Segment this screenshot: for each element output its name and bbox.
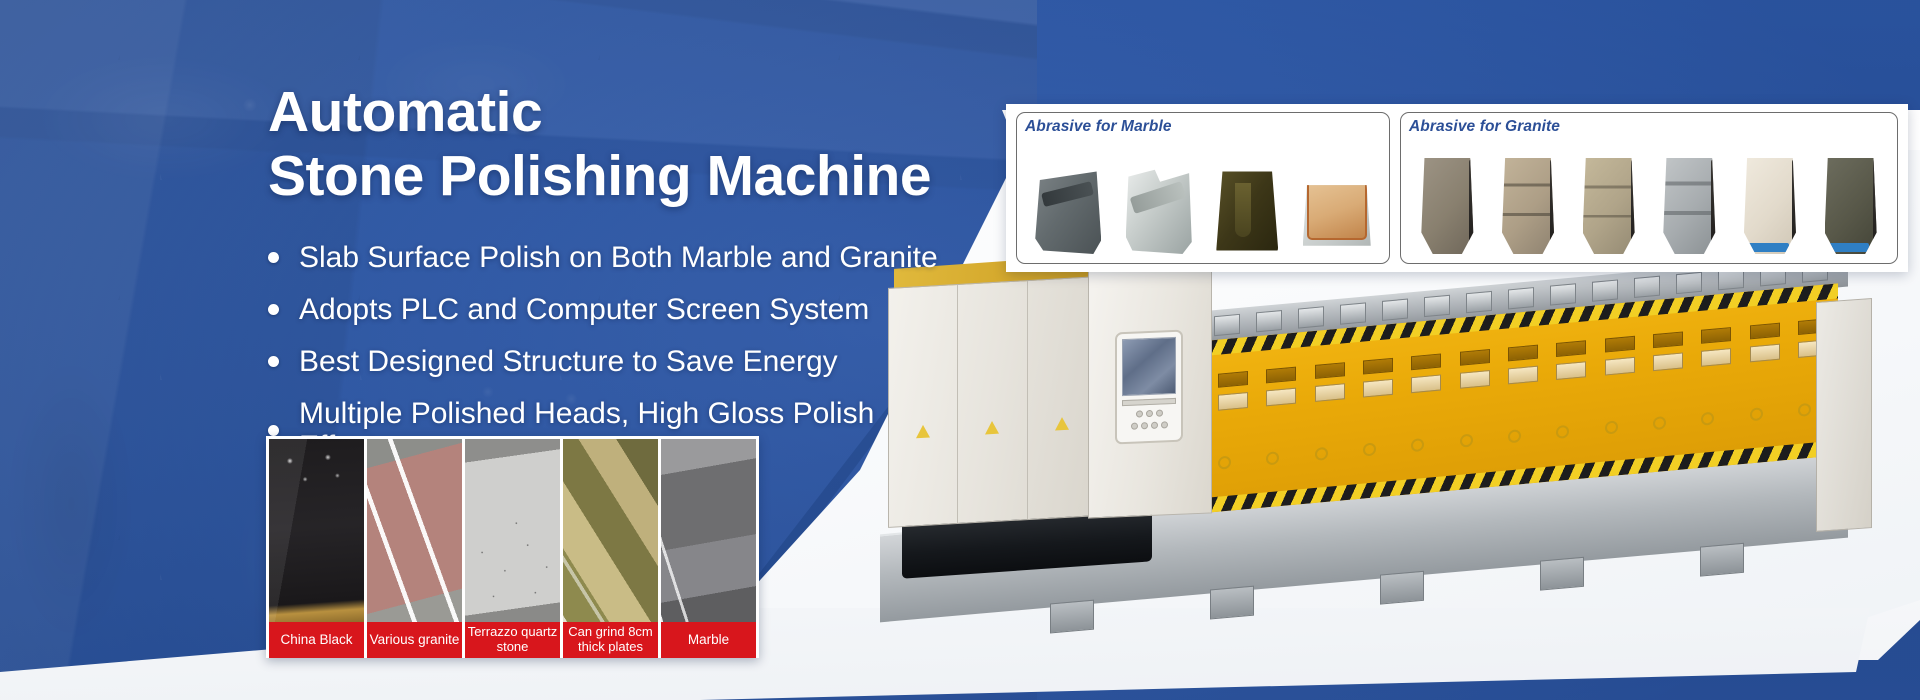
thumbnail-caption: China Black	[269, 622, 364, 658]
panel-button	[1146, 410, 1153, 417]
abrasive-panel-granite: Abrasive for Granite	[1400, 112, 1898, 264]
feature-text: Slab Surface Polish on Both Marble and G…	[299, 241, 938, 274]
abrasive-panel-marble-title: Abrasive for Marble	[1025, 118, 1381, 136]
thumbnail-item: China Black	[269, 439, 364, 658]
operator-panel-housing	[1088, 263, 1212, 518]
dark-grey-marble-abrasive	[1035, 168, 1101, 254]
olive-brown-marble-abrasive	[1216, 168, 1278, 254]
warning-triangle-icon	[1055, 417, 1069, 431]
beige-segmented-granite-abrasive	[1583, 156, 1635, 254]
bullet-dot-icon	[268, 425, 279, 436]
thumbnail-caption: Terrazzo quartz stone	[465, 622, 560, 658]
panel-button	[1151, 422, 1158, 429]
thumbnail-caption: Various granite	[367, 622, 462, 658]
cabinet-door	[958, 281, 1027, 523]
machine-right-column	[1816, 298, 1872, 532]
headline-line-1: Automatic	[268, 84, 958, 141]
cabinet-door	[1028, 277, 1097, 519]
thumbnail-image-china-black	[269, 439, 364, 622]
sample-thumbnail-strip: China Black Various granite Terrazzo qua…	[266, 436, 759, 658]
abrasive-panel-marble: Abrasive for Marble	[1016, 112, 1390, 264]
thumbnail-image-various-granite	[367, 439, 462, 622]
granite-abrasive-blocks	[1409, 138, 1889, 257]
thumbnail-item: Terrazzo quartz stone	[465, 439, 560, 658]
abrasive-samples-card: Abrasive for Marble Abrasive for Granite	[1006, 104, 1908, 272]
headline-block: Automatic Stone Polishing Machine Slab S…	[268, 84, 958, 482]
machine-foot	[1700, 543, 1744, 577]
panel-indicator-bar	[1122, 398, 1176, 406]
bullet-dot-icon	[268, 356, 279, 367]
panel-button	[1161, 421, 1168, 428]
feature-text: Best Designed Structure to Save Energy	[299, 345, 838, 378]
thumbnail-image-terrazzo	[465, 439, 560, 622]
feature-list: Slab Surface Polish on Both Marble and G…	[268, 241, 958, 463]
panel-button-row	[1122, 409, 1176, 418]
warning-triangle-icon	[985, 421, 999, 435]
operator-screen-panel	[1115, 330, 1183, 445]
thumbnail-item: Can grind 8cm thick plates	[563, 439, 658, 658]
feature-text: Adopts PLC and Computer Screen System	[299, 293, 869, 326]
machine-foot	[1380, 571, 1424, 605]
marble-abrasive-blocks	[1025, 138, 1381, 257]
panel-button	[1136, 410, 1143, 417]
panel-button	[1156, 409, 1163, 416]
grey-segmented-granite-abrasive	[1663, 156, 1715, 254]
machine-foot	[1540, 557, 1584, 591]
thumbnail-caption: Marble	[661, 622, 756, 658]
headline-line-2: Stone Polishing Machine	[268, 148, 958, 205]
copper-tan-marble-abrasive	[1303, 172, 1371, 254]
bullet-dot-icon	[268, 304, 279, 315]
cream-granite-abrasive	[1744, 156, 1796, 254]
machine-foot	[1050, 600, 1094, 634]
panel-button	[1131, 422, 1138, 429]
abrasive-panel-granite-title: Abrasive for Granite	[1409, 118, 1889, 136]
thumbnail-item: Various granite	[367, 439, 462, 658]
machine-foot	[1210, 586, 1254, 620]
list-item: Slab Surface Polish on Both Marble and G…	[268, 241, 958, 274]
tan-segmented-granite-abrasive	[1502, 156, 1554, 254]
panel-button	[1141, 422, 1148, 429]
thumbnail-caption: Can grind 8cm thick plates	[563, 622, 658, 658]
white-grey-marble-abrasive	[1126, 168, 1192, 254]
brown-granite-abrasive	[1421, 156, 1473, 254]
list-item: Best Designed Structure to Save Energy	[268, 345, 958, 378]
product-banner: Abrasive for Marble Abrasive for Granite	[0, 0, 1920, 700]
page-title: Automatic Stone Polishing Machine	[268, 84, 958, 205]
thumbnail-image-thick-plates	[563, 439, 658, 622]
computer-screen	[1122, 337, 1176, 396]
dark-olive-granite-abrasive	[1825, 156, 1877, 254]
stone-polishing-machine-image	[880, 240, 1880, 670]
thumbnail-item: Marble	[661, 439, 756, 658]
bullet-dot-icon	[268, 252, 279, 263]
list-item: Adopts PLC and Computer Screen System	[268, 293, 958, 326]
thumbnail-image-marble	[661, 439, 756, 622]
panel-button-row	[1122, 421, 1176, 430]
